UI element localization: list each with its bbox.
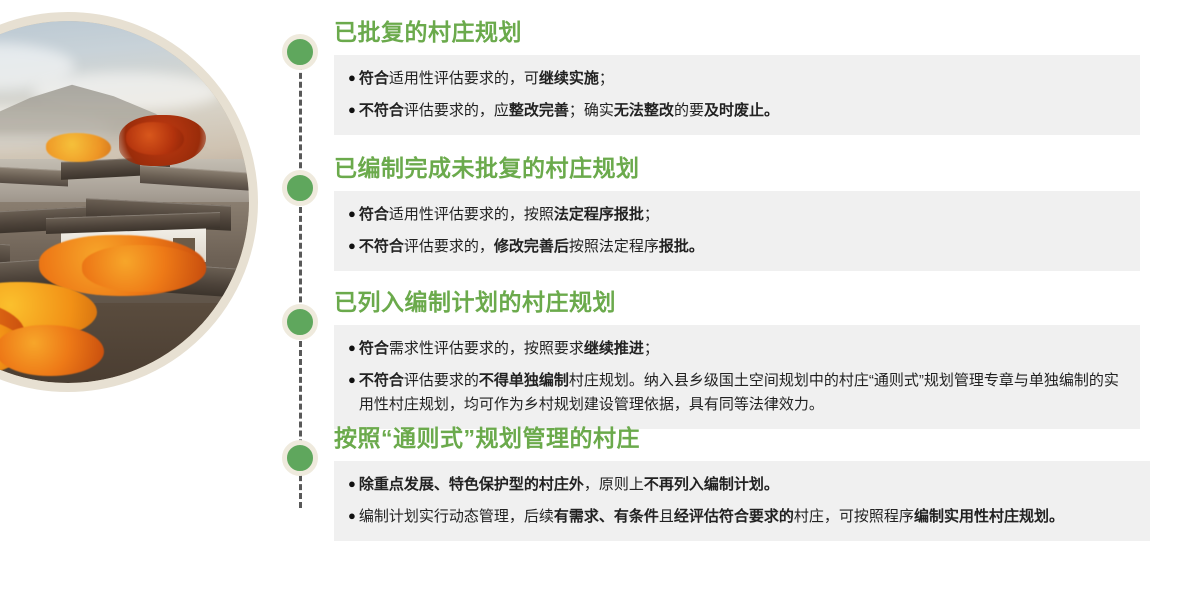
timeline-dot-1[interactable] xyxy=(282,34,318,70)
photo-yellow-leaves xyxy=(46,133,111,162)
bullet-text: 不符合评估要求的不得单独编制村庄规划。纳入县乡级国土空间规划中的村庄“通则式”规… xyxy=(359,369,1124,418)
bullet-text: 除重点发展、特色保护型的村庄外，原则上不再列入编制计划。 xyxy=(359,473,1134,497)
photo-circular-frame xyxy=(0,12,258,392)
section-completed-unapproved-plans: 已编制完成未批复的村庄规划 ● 符合适用性评估要求的，按照法定程序报批； ● 不… xyxy=(334,156,1140,271)
photo-orange-leaves xyxy=(0,325,104,376)
section-title: 已编制完成未批复的村庄规划 xyxy=(334,156,1140,181)
bullet-icon: ● xyxy=(348,337,356,358)
bullet-icon: ● xyxy=(348,99,356,120)
section-panel: ● 符合适用性评估要求的，按照法定程序报批； ● 不符合评估要求的，修改完善后按… xyxy=(334,191,1140,271)
timeline-dot-3[interactable] xyxy=(282,304,318,340)
bullet-text: 不符合评估要求的，应整改完善；确实无法整改的要及时废止。 xyxy=(359,99,1124,123)
bullet-text: 符合需求性评估要求的，按照要求继续推进； xyxy=(359,337,1124,361)
photo-orange-leaves xyxy=(82,245,205,292)
list-item: ● 符合适用性评估要求的，按照法定程序报批； xyxy=(348,203,1124,227)
list-item: ● 除重点发展、特色保护型的村庄外，原则上不再列入编制计划。 xyxy=(348,473,1134,497)
bullet-icon: ● xyxy=(348,369,356,390)
section-general-rule-villages: 按照“通则式”规划管理的村庄 ● 除重点发展、特色保护型的村庄外，原则上不再列入… xyxy=(334,426,1150,541)
bullet-text: 符合适用性评估要求的，可继续实施； xyxy=(359,67,1124,91)
photo-red-leaves xyxy=(126,122,184,155)
bullet-text: 不符合评估要求的，修改完善后按照法定程序报批。 xyxy=(359,235,1124,259)
list-item: ● 符合适用性评估要求的，可继续实施； xyxy=(348,67,1124,91)
timeline-dot-4[interactable] xyxy=(282,440,318,476)
bullet-icon: ● xyxy=(348,67,356,88)
timeline-dot-2[interactable] xyxy=(282,170,318,206)
section-approved-plans: 已批复的村庄规划 ● 符合适用性评估要求的，可继续实施； ● 不符合评估要求的，… xyxy=(334,20,1140,135)
photo-content xyxy=(0,21,249,383)
list-item: ● 编制计划实行动态管理，后续有需求、有条件且经评估符合要求的村庄，可按照程序编… xyxy=(348,505,1134,529)
section-panel: ● 符合适用性评估要求的，可继续实施； ● 不符合评估要求的，应整改完善；确实无… xyxy=(334,55,1140,135)
bullet-icon: ● xyxy=(348,235,356,256)
section-title: 按照“通则式”规划管理的村庄 xyxy=(334,426,1150,451)
section-panel: ● 符合需求性评估要求的，按照要求继续推进； ● 不符合评估要求的不得单独编制村… xyxy=(334,325,1140,429)
list-item: ● 符合需求性评估要求的，按照要求继续推进； xyxy=(348,337,1124,361)
bullet-icon: ● xyxy=(348,203,356,224)
bullet-text: 符合适用性评估要求的，按照法定程序报批； xyxy=(359,203,1124,227)
section-listed-in-plan: 已列入编制计划的村庄规划 ● 符合需求性评估要求的，按照要求继续推进； ● 不符… xyxy=(334,290,1140,429)
list-item: ● 不符合评估要求的不得单独编制村庄规划。纳入县乡级国土空间规划中的村庄“通则式… xyxy=(348,369,1124,418)
timeline xyxy=(282,18,318,508)
section-title: 已批复的村庄规划 xyxy=(334,20,1140,45)
list-item: ● 不符合评估要求的，修改完善后按照法定程序报批。 xyxy=(348,235,1124,259)
bullet-icon: ● xyxy=(348,473,356,494)
bullet-text: 编制计划实行动态管理，后续有需求、有条件且经评估符合要求的村庄，可按照程序编制实… xyxy=(359,505,1134,529)
bullet-icon: ● xyxy=(348,505,356,526)
section-title: 已列入编制计划的村庄规划 xyxy=(334,290,1140,315)
list-item: ● 不符合评估要求的，应整改完善；确实无法整改的要及时废止。 xyxy=(348,99,1124,123)
timeline-dashed-line xyxy=(299,46,302,508)
village-photo xyxy=(0,12,258,392)
section-panel: ● 除重点发展、特色保护型的村庄外，原则上不再列入编制计划。 ● 编制计划实行动… xyxy=(334,461,1150,541)
